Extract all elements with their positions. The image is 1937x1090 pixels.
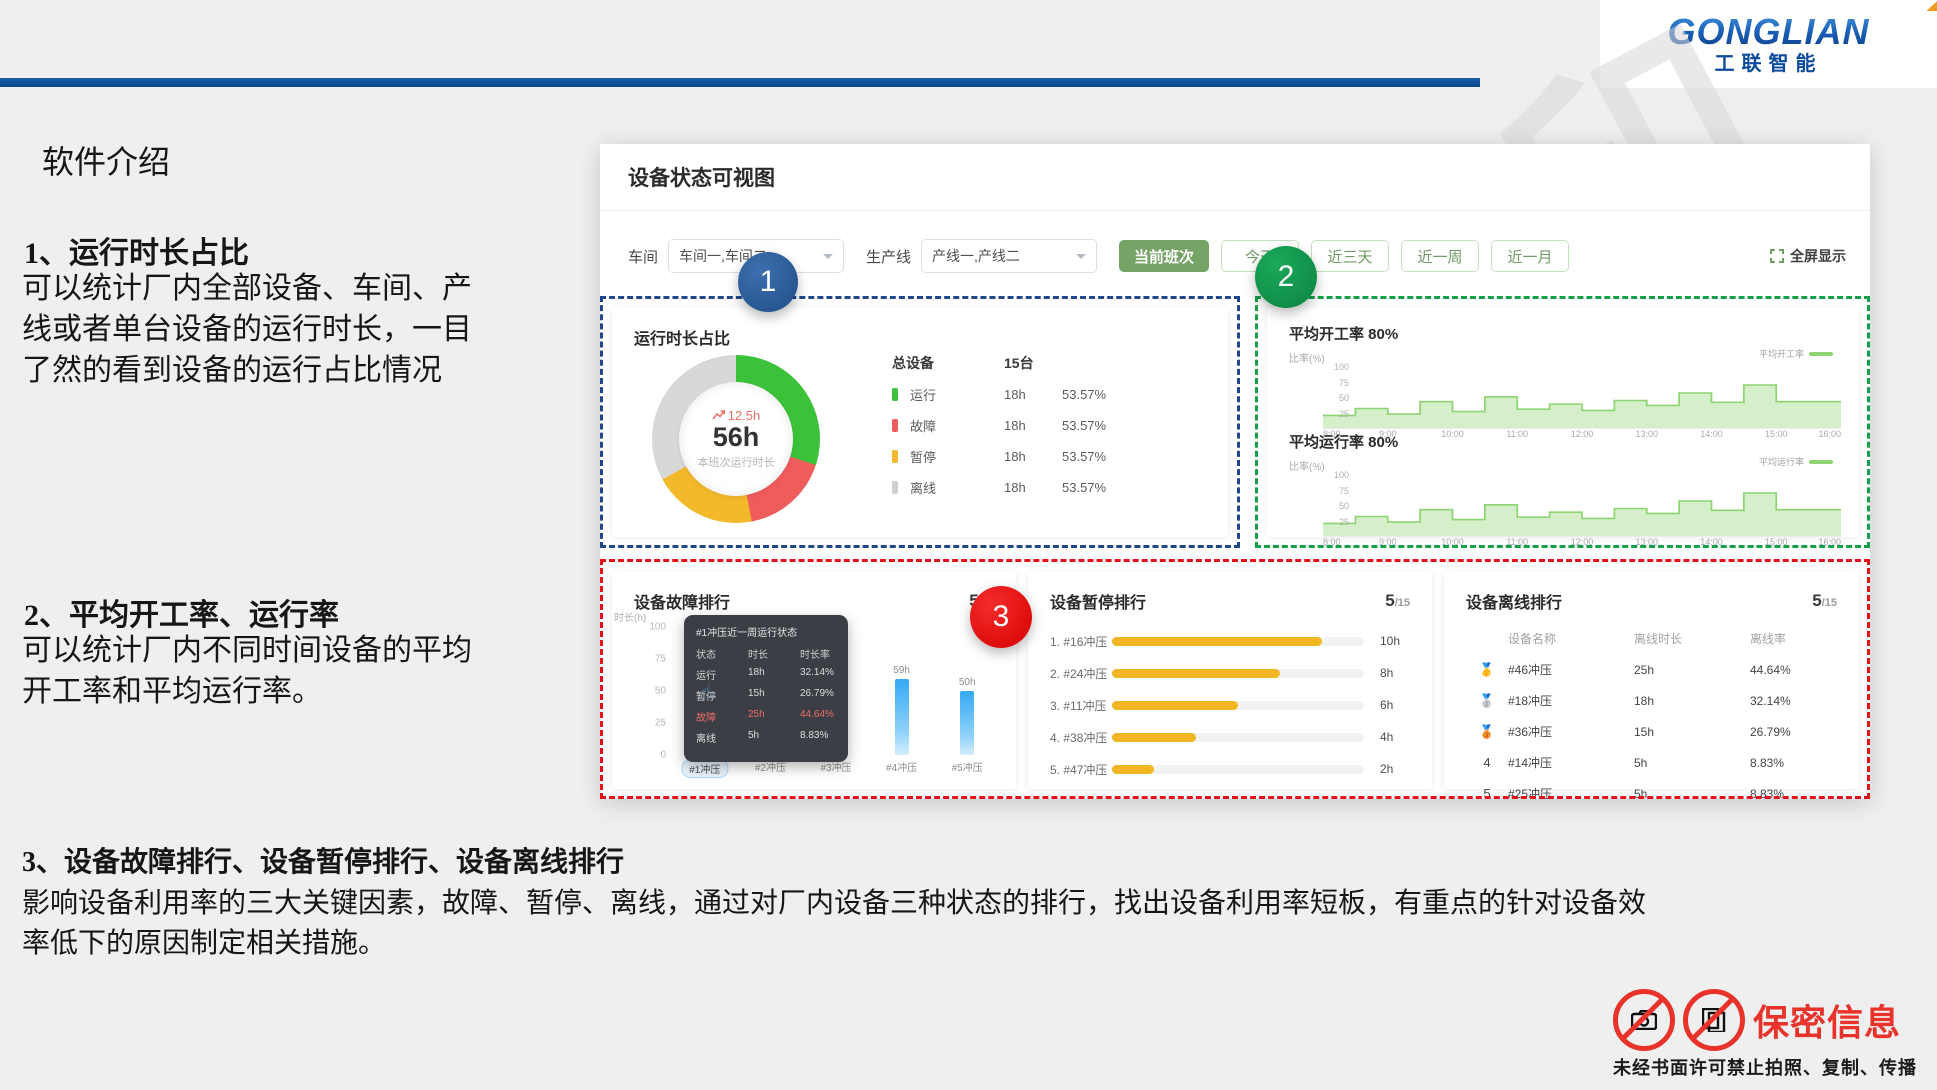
- y-tick: 75: [655, 654, 666, 665]
- offline-ranking-panel: 设备离线排行 5/15 设备名称离线时长离线率🥇#46冲压25h44.64%🥈#…: [1444, 571, 1859, 789]
- bar[interactable]: [895, 679, 909, 755]
- avg-startup-rate-chart: 平均开工率 80% 平均开工率 比率(%) 255075100 8:009:00…: [1289, 323, 1841, 443]
- donut-center: 12.5h 56h 本班次运行时长: [679, 382, 793, 496]
- col-offline-duration: 离线时长: [1634, 630, 1750, 647]
- value-label: 2h: [1380, 762, 1412, 776]
- y-tick: 50: [1339, 501, 1349, 511]
- progress-fill: [1112, 701, 1238, 710]
- tooltip-state: 故障: [696, 709, 748, 724]
- y-tick: 0: [660, 750, 666, 761]
- legend-pct: 53.57%: [1062, 418, 1106, 433]
- col-offline-rate: 离线率: [1750, 630, 1840, 647]
- tooltip-state: 离线: [696, 730, 748, 745]
- area-series: [1323, 475, 1841, 537]
- page-title: 设备状态可视图: [628, 162, 775, 192]
- table-row[interactable]: 🥈#18冲压18h32.14%: [1466, 685, 1841, 716]
- offline-ranking-title: 设备离线排行: [1466, 589, 1562, 613]
- chevron-down-icon: [1076, 254, 1086, 259]
- progress-track: [1112, 733, 1364, 742]
- legend-row: 离线 18h 53.57%: [892, 478, 1192, 497]
- y-tick: 25: [655, 718, 666, 729]
- count-total: /15: [1822, 597, 1837, 609]
- x-tick: 14:00: [1700, 537, 1723, 547]
- pause-ranking-count: 5/15: [1385, 591, 1410, 611]
- table-row[interactable]: 4#14冲压5h8.83%: [1466, 747, 1841, 778]
- legend-row: 运行 18h 53.57%: [892, 385, 1192, 404]
- ban-slash: [1692, 995, 1737, 1040]
- x-tick: 9:00: [1379, 537, 1397, 547]
- rank-cell: 🥈: [1466, 693, 1508, 709]
- list-item[interactable]: 5. #47冲压2h: [1050, 753, 1412, 785]
- legend-name: 离线: [910, 478, 1004, 497]
- y-axis-ticks: 255075100: [1323, 367, 1353, 429]
- tooltip-state: 运行: [696, 667, 748, 682]
- rate-cell: 26.79%: [1750, 725, 1840, 739]
- value-label: 8h: [1380, 666, 1412, 680]
- pause-ranking-panel: 设备暂停排行 5/15 1. #16冲压10h2. #24冲压8h3. #11冲…: [1028, 571, 1432, 789]
- legend-swatch: [1809, 352, 1833, 356]
- total-devices-row: 总设备 15台: [892, 353, 1192, 373]
- confidential-row: 保密信息: [1613, 989, 1917, 1051]
- legend-pct: 53.57%: [1062, 480, 1106, 495]
- y-tick: 100: [1334, 362, 1349, 372]
- status-dot-offline: [892, 481, 898, 494]
- list-item[interactable]: 4. #38冲压4h: [1050, 721, 1412, 753]
- x-tick: 16:00: [1818, 537, 1841, 547]
- donut-delta-value: 12.5h: [728, 408, 761, 423]
- avg-running-rate-legend: 平均运行率: [1759, 455, 1833, 468]
- tooltip-header-row: 状态 时长 时长率: [696, 646, 836, 661]
- x-tick[interactable]: #4冲压: [886, 759, 917, 774]
- fullscreen-button[interactable]: 全屏显示: [1770, 246, 1846, 266]
- run-duration-panel: 运行时长占比 12.5h 56h 本班次运行时长: [612, 307, 1228, 537]
- status-dot-fault: [892, 419, 898, 432]
- rate-cell: 8.83%: [1750, 787, 1840, 801]
- x-tick: 8:00: [1323, 537, 1341, 547]
- avg-running-rate-plot: 255075100: [1323, 475, 1841, 537]
- tooltip-col-state: 状态: [696, 646, 748, 661]
- legend-label: 平均运行率: [1759, 455, 1804, 468]
- line-filter-label: 生产线: [866, 246, 911, 267]
- filter-toolbar: 车间 车间一,车间二 生产线 产线一,产线二 当前班次 今天 近三天 近一周 近…: [628, 236, 1846, 276]
- rank-label: 2. #24冲压: [1050, 665, 1112, 682]
- fullscreen-icon: [1770, 249, 1784, 263]
- intro-title: 软件介绍: [42, 137, 170, 183]
- progress-track: [1112, 669, 1364, 678]
- avg-startup-rate-legend: 平均开工率: [1759, 347, 1833, 360]
- pause-ranking-list: 1. #16冲压10h2. #24冲压8h3. #11冲压6h4. #38冲压4…: [1050, 625, 1412, 785]
- rate-cell: 44.64%: [1750, 663, 1840, 677]
- y-tick: 75: [1339, 486, 1349, 496]
- workshop-filter-label: 车间: [628, 246, 658, 267]
- x-axis-ticks: 8:009:0010:0011:0012:0013:0014:0015:0016…: [1323, 537, 1841, 551]
- section-3-heading: 3、设备故障排行、设备暂停排行、设备离线排行: [22, 840, 624, 880]
- rate-charts-panel: 平均开工率 80% 平均开工率 比率(%) 255075100 8:009:00…: [1267, 307, 1859, 537]
- list-item[interactable]: 2. #24冲压8h: [1050, 657, 1412, 689]
- range-chip-month[interactable]: 近一月: [1491, 240, 1569, 272]
- progress-track: [1112, 765, 1364, 774]
- legend-row: 暂停 18h 53.57%: [892, 447, 1192, 466]
- avg-running-rate-chart: 平均运行率 80% 平均运行率 比率(%) 255075100 8:009:00…: [1289, 431, 1841, 551]
- fullscreen-label: 全屏显示: [1790, 246, 1846, 266]
- value-label: 10h: [1380, 634, 1412, 648]
- y-tick: 50: [1339, 393, 1349, 403]
- table-row[interactable]: 5#25冲压5h8.83%: [1466, 778, 1841, 809]
- range-chip-week[interactable]: 近一周: [1401, 240, 1479, 272]
- y-tick: 100: [1334, 470, 1349, 480]
- tooltip-rate: 26.79%: [800, 688, 834, 703]
- logo-wordmark: GONGLIAN: [1668, 14, 1870, 50]
- rank-cell: 🥇: [1466, 662, 1508, 678]
- device-name-cell: #36冲压: [1508, 723, 1634, 740]
- legend-label: 平均开工率: [1759, 347, 1804, 360]
- mouse-cursor-icon: ☝: [700, 681, 712, 704]
- tooltip-duration: 5h: [748, 730, 800, 745]
- device-name-cell: #46冲压: [1508, 661, 1634, 678]
- y-axis-ticks: 255075100: [1323, 475, 1353, 537]
- run-duration-title: 运行时长占比: [634, 325, 730, 349]
- duration-cell: 18h: [1634, 694, 1750, 708]
- app-window: 设备状态可视图 车间 车间一,车间二 生产线 产线一,产线二 当前班次 今天 近…: [600, 144, 1870, 799]
- list-item[interactable]: 3. #11冲压6h: [1050, 689, 1412, 721]
- tooltip-rate: 44.64%: [800, 709, 834, 724]
- title-divider: [600, 210, 1870, 211]
- y-axis-ticks: 0255075100: [620, 627, 666, 755]
- value-label: 4h: [1380, 730, 1412, 744]
- section-1-heading: 1、运行时长占比: [24, 228, 249, 272]
- ban-slash: [1622, 995, 1667, 1040]
- x-tick: 12:00: [1571, 537, 1594, 547]
- rank-label: 3. #11冲压: [1050, 697, 1112, 714]
- progress-fill: [1112, 669, 1280, 678]
- slide-canvas: GONGLIAN 工联智能 软件介绍 1、运行时长占比 可以统计厂内全部设备、车…: [0, 0, 1937, 1090]
- value-label: 6h: [1380, 698, 1412, 712]
- tooltip-row: 运行 18h 32.14%: [696, 667, 836, 682]
- run-duration-donut: 12.5h 56h 本班次运行时长: [652, 355, 820, 523]
- bar-value-label: 59h: [893, 665, 910, 676]
- logo-subtitle: 工联智能: [1715, 54, 1823, 74]
- total-devices-label: 总设备: [892, 353, 1004, 373]
- legend-hours: 18h: [1004, 480, 1062, 495]
- legend-row: 故障 18h 53.57%: [892, 416, 1192, 435]
- rate-cell: 32.14%: [1750, 694, 1840, 708]
- y-tick: 50: [655, 686, 666, 697]
- device-name-cell: #25冲压: [1508, 785, 1634, 802]
- y-tick: 25: [1339, 517, 1349, 527]
- offline-ranking-count: 5/15: [1812, 591, 1837, 611]
- progress-fill: [1112, 765, 1154, 774]
- count-value: 5: [1385, 591, 1394, 610]
- section-1-body: 可以统计厂内全部设备、车间、产线或者单台设备的运行时长，一目了然的看到设备的运行…: [22, 268, 492, 391]
- rank-label: 1. #16冲压: [1050, 633, 1112, 650]
- x-tick[interactable]: #5冲压: [952, 759, 983, 774]
- progress-fill: [1112, 733, 1196, 742]
- range-chip-3days[interactable]: 近三天: [1311, 240, 1389, 272]
- legend-name: 运行: [910, 385, 1004, 404]
- donut-value: 56h: [713, 423, 760, 453]
- tooltip-duration: 15h: [748, 688, 800, 703]
- pause-ranking-title: 设备暂停排行: [1050, 589, 1146, 613]
- avg-running-rate-title: 平均运行率 80%: [1289, 431, 1841, 452]
- progress-track: [1112, 637, 1364, 646]
- legend-hours: 18h: [1004, 418, 1062, 433]
- annotation-bubble-2: 2: [1255, 246, 1317, 308]
- device-name-cell: #18冲压: [1508, 692, 1634, 709]
- duration-cell: 5h: [1634, 787, 1750, 801]
- legend-swatch: [1809, 460, 1833, 464]
- tooltip-row-highlight: 故障 25h 44.64%: [696, 709, 836, 724]
- section-2-heading: 2、平均开工率、运行率: [24, 590, 339, 634]
- x-tick: 13:00: [1635, 537, 1658, 547]
- table-row[interactable]: 🥉#36冲压15h26.79%: [1466, 716, 1841, 747]
- no-copy-icon: [1683, 989, 1745, 1051]
- device-name-cell: #14冲压: [1508, 754, 1634, 771]
- x-tick: 15:00: [1765, 537, 1788, 547]
- legend-hours: 18h: [1004, 449, 1062, 464]
- tooltip-rate: 32.14%: [800, 667, 834, 682]
- progress-fill: [1112, 637, 1322, 646]
- tooltip-rate: 8.83%: [800, 730, 828, 745]
- header-accent-rule: [0, 78, 1480, 87]
- rate-cell: 8.83%: [1750, 756, 1840, 770]
- legend-pct: 53.57%: [1062, 387, 1106, 402]
- tooltip-duration: 18h: [748, 667, 800, 682]
- donut-delta: 12.5h: [712, 408, 761, 423]
- bar[interactable]: [960, 691, 974, 755]
- no-camera-icon: [1613, 989, 1675, 1051]
- table-row[interactable]: 🥇#46冲压25h44.64%: [1466, 654, 1841, 685]
- rank-cell: 4: [1466, 755, 1508, 770]
- chevron-down-icon: [823, 254, 833, 259]
- annotation-bubble-3: 3: [970, 586, 1032, 648]
- bar-value-label: 50h: [959, 677, 976, 688]
- count-value: 5: [1812, 591, 1821, 610]
- fault-ranking-panel: 设备故障排行 5/15 时长(h) 0255075100 97h80h69h59…: [612, 571, 1016, 789]
- duration-cell: 25h: [1634, 663, 1750, 677]
- list-item[interactable]: 1. #16冲压10h: [1050, 625, 1412, 657]
- legend-name: 故障: [910, 416, 1004, 435]
- col-device-name: 设备名称: [1508, 630, 1634, 647]
- rank-label: 5. #47冲压: [1050, 761, 1112, 778]
- section-2-body: 可以统计厂内不同时间设备的平均开工率和平均运行率。: [22, 630, 492, 712]
- avg-startup-rate-title: 平均开工率 80%: [1289, 323, 1841, 344]
- confidential-notice: 保密信息 未经书面许可禁止拍照、复制、传播: [1613, 989, 1917, 1080]
- table-header-row: 设备名称离线时长离线率: [1466, 623, 1841, 654]
- confidential-sub-text: 未经书面许可禁止拍照、复制、传播: [1613, 1054, 1917, 1080]
- range-chip-current-shift[interactable]: 当前班次: [1119, 240, 1209, 272]
- company-logo: GONGLIAN 工联智能: [1600, 0, 1937, 88]
- y-tick: 75: [1339, 378, 1349, 388]
- section-3-body: 影响设备利用率的三大关键因素，故障、暂停、离线，通过对厂内设备三种状态的排行，找…: [22, 884, 1662, 964]
- legend-name: 暂停: [910, 447, 1004, 466]
- status-dot-running: [892, 388, 898, 401]
- avg-startup-rate-plot: 255075100: [1323, 367, 1841, 429]
- tooltip-duration: 25h: [748, 709, 800, 724]
- count-total: /15: [1395, 597, 1410, 609]
- trend-up-icon: [712, 410, 725, 421]
- x-tick: 10:00: [1441, 537, 1464, 547]
- total-devices-value: 15台: [1004, 353, 1034, 373]
- y-tick: 25: [1339, 409, 1349, 419]
- progress-track: [1112, 701, 1364, 710]
- legend-hours: 18h: [1004, 387, 1062, 402]
- fault-ranking-title: 设备故障排行: [634, 589, 730, 613]
- area-series: [1323, 367, 1841, 429]
- production-line-select-value: 产线一,产线二: [932, 246, 1020, 266]
- tooltip-title: #1冲压近一周运行状态: [696, 624, 836, 639]
- tooltip-col-rate: 时长率: [800, 646, 830, 661]
- tooltip-row: 暂停 15h 26.79%: [696, 688, 836, 703]
- rank-cell: 🥉: [1466, 724, 1508, 740]
- run-duration-legend: 总设备 15台 运行 18h 53.57% 故障 18h 53.57%: [892, 353, 1192, 509]
- fault-ylabel: 时长(h): [614, 609, 646, 624]
- tooltip-col-duration: 时长: [748, 646, 800, 661]
- production-line-select[interactable]: 产线一,产线二: [921, 239, 1097, 273]
- y-tick: 100: [649, 622, 666, 633]
- confidential-main-text: 保密信息: [1753, 994, 1901, 1046]
- logo-accent-icon: [1926, 0, 1937, 11]
- duration-cell: 15h: [1634, 725, 1750, 739]
- x-tick: 11:00: [1506, 537, 1528, 547]
- status-dot-paused: [892, 450, 898, 463]
- rank-cell: 5: [1466, 786, 1508, 801]
- annotation-bubble-1: 1: [738, 252, 798, 312]
- tooltip-row: 离线 5h 8.83%: [696, 730, 836, 745]
- rank-label: 4. #38冲压: [1050, 729, 1112, 746]
- offline-ranking-table: 设备名称离线时长离线率🥇#46冲压25h44.64%🥈#18冲压18h32.14…: [1466, 623, 1841, 809]
- legend-pct: 53.57%: [1062, 449, 1106, 464]
- donut-sublabel: 本班次运行时长: [698, 454, 775, 470]
- duration-cell: 5h: [1634, 756, 1750, 770]
